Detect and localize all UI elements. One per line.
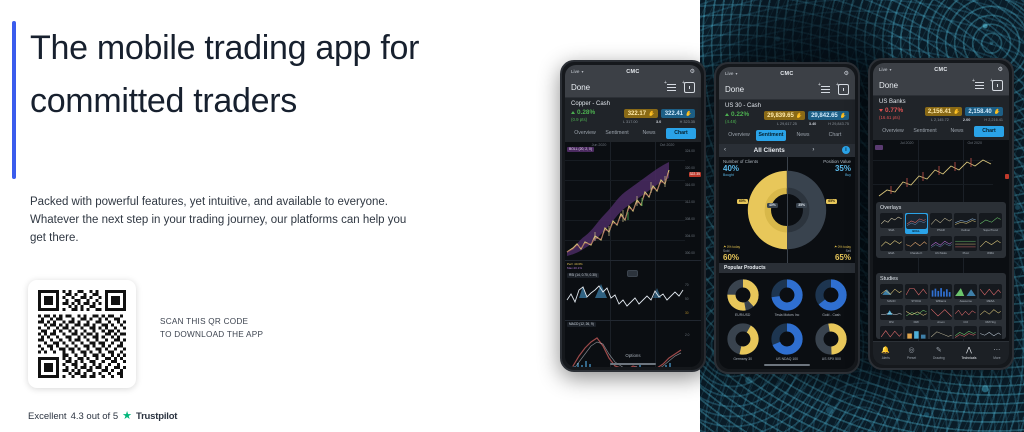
axis-tick: 312.00 bbox=[685, 200, 701, 204]
study-label: MACD bbox=[887, 300, 895, 303]
tab-overview[interactable]: Overview bbox=[878, 126, 908, 137]
instrument-name: US Banks bbox=[879, 99, 1003, 105]
studies-title: Studies bbox=[880, 276, 1002, 282]
study-item-williams[interactable]: Williams bbox=[930, 284, 953, 303]
add-alert-icon[interactable] bbox=[684, 82, 695, 93]
thumb-preview bbox=[954, 284, 977, 299]
toolbar-label: More bbox=[993, 356, 1000, 360]
study-item-sstoch[interactable]: S Stoch bbox=[880, 326, 903, 339]
prev-client-button[interactable]: ‹ bbox=[724, 147, 726, 153]
high-label: H 29,843.75 bbox=[828, 122, 849, 126]
high-label: H 323.35 bbox=[680, 120, 695, 124]
page-title: The mobile trading app for committed tra… bbox=[30, 22, 460, 128]
phone2-screen: Live ▾ CMC ⚙ Done US 30 - Cash bbox=[719, 67, 855, 369]
product-tile[interactable]: US NDAQ 100 bbox=[765, 320, 808, 363]
phone3-screen: Live ▾ CMC ⚙ Done US Banks bbox=[873, 63, 1009, 365]
qr-code-card[interactable] bbox=[28, 280, 136, 388]
product-label: US NDAQ 100 bbox=[776, 357, 798, 361]
pencil-icon: ✎ bbox=[936, 347, 942, 355]
toolbar-more[interactable]: ⋯ More bbox=[993, 347, 1000, 360]
overlay-badge bbox=[875, 145, 883, 150]
info-icon[interactable]: i bbox=[842, 146, 850, 154]
preset-icon: ◎ bbox=[909, 347, 915, 355]
add-watchlist-icon[interactable] bbox=[666, 82, 677, 93]
buy-price: 29,842.65 bbox=[811, 113, 838, 119]
sell-price: 29,839.65 bbox=[767, 113, 794, 119]
done-button[interactable]: Done bbox=[879, 81, 898, 90]
spread-value: 3.40 bbox=[809, 122, 816, 126]
sentiment-chart-area: Number of Clients 40% Bought Position Va… bbox=[719, 157, 855, 263]
tab-news[interactable]: News bbox=[634, 128, 664, 139]
toolbar-drawing[interactable]: ✎ Drawing bbox=[933, 347, 945, 360]
overlay-badge: BOLL (20, 2, 0) bbox=[567, 147, 594, 152]
add-alert-icon[interactable] bbox=[838, 84, 849, 95]
phone3-toolbar: 🔔 Alerts ◎ Preset ✎ Drawing ⋀ Technicals bbox=[873, 341, 1009, 365]
done-button[interactable]: Done bbox=[725, 85, 744, 94]
thumb-preview bbox=[979, 305, 1002, 320]
product-donut bbox=[814, 278, 848, 312]
overlay-item-pivot[interactable]: Pivot bbox=[954, 236, 977, 255]
product-tile[interactable]: Gold - Cash bbox=[810, 276, 853, 319]
overlay-label: Pivot bbox=[963, 252, 969, 255]
overlay-item-ema[interactable]: EMA bbox=[880, 236, 903, 255]
instrument-change: 0.22% (4.48) bbox=[725, 111, 749, 124]
thumb-preview bbox=[880, 236, 903, 251]
tab-overview[interactable]: Overview bbox=[570, 128, 600, 139]
thumb-preview bbox=[930, 284, 953, 299]
overlay-item-supertrend[interactable]: SuperTrend bbox=[979, 213, 1002, 234]
phone2-navbar: Done bbox=[719, 80, 855, 100]
left-outer-tag: 60% bbox=[737, 199, 748, 204]
add-watchlist-icon[interactable] bbox=[820, 84, 831, 95]
buy-hand-icon: ✋ bbox=[685, 111, 691, 117]
accent-bar bbox=[12, 21, 16, 179]
thumb-preview bbox=[905, 284, 928, 299]
sell-price: 2,156.41 bbox=[928, 109, 951, 115]
toolbar-label: Preset bbox=[907, 356, 916, 360]
axis-tick: 2.0 bbox=[685, 333, 701, 337]
chart-date-2: Oct 2020 bbox=[660, 143, 675, 147]
product-label: US SPX 500 bbox=[822, 357, 841, 361]
overlay-label: WMA bbox=[987, 252, 994, 255]
chart-date-2: Oct 2020 bbox=[967, 141, 982, 145]
study-item-roc[interactable]: ROC bbox=[905, 326, 928, 339]
phone3-tabs: Overview Sentiment News Chart bbox=[873, 124, 1009, 140]
overlay-label: EMA bbox=[888, 252, 894, 255]
sell-price: 322.17 bbox=[628, 111, 646, 117]
overlay-item-sma[interactable]: SMA bbox=[880, 213, 903, 234]
study-item-ultimate[interactable]: Ultimate bbox=[979, 326, 1002, 339]
overlay-label: Ichi Moku bbox=[935, 252, 947, 255]
change-percent: 0.22% bbox=[731, 111, 749, 118]
study-item-mesa[interactable]: MESA bbox=[979, 284, 1002, 303]
low-label: L 2,145.72 bbox=[931, 118, 949, 122]
study-label: Aroon bbox=[937, 321, 944, 324]
phone2-instrument-header: US 30 - Cash 0.22% (4.48) 29,839.65 bbox=[719, 100, 855, 128]
phone-mockup-sentiment: Live ▾ CMC ⚙ Done US 30 - Cash bbox=[714, 62, 860, 374]
phone3-instrument-header: US Banks 0.77% (16.61 pts) 2,156.41 bbox=[873, 96, 1009, 124]
product-tile[interactable]: US SPX 500 bbox=[810, 320, 853, 363]
axis-tick: 308.00 bbox=[685, 217, 701, 221]
thumb-preview bbox=[930, 213, 953, 228]
phone-mockup-technicals: Live ▾ CMC ⚙ Done US Banks bbox=[868, 58, 1014, 370]
thumb-preview bbox=[979, 284, 1002, 299]
trustpilot-star-icon: ★ bbox=[122, 411, 132, 422]
overlay-item-chande[interactable]: Chande K bbox=[905, 236, 928, 255]
phone1-navbar: Done bbox=[565, 78, 701, 98]
study-label: CCI bbox=[963, 321, 968, 324]
overlay-item-boll[interactable]: BOLL bbox=[905, 213, 928, 234]
axis-tick: 50 bbox=[685, 297, 701, 301]
study-label: DMI bbox=[914, 321, 919, 324]
phone1-tabs: Overview Sentiment News Chart bbox=[565, 126, 701, 142]
crosshair-button[interactable] bbox=[627, 270, 638, 277]
overlay-label: Chande K bbox=[910, 252, 922, 255]
product-label: Germany 30 bbox=[733, 357, 752, 361]
sell-hand-icon: ✋ bbox=[648, 111, 654, 117]
rsi-axis: 70 50 30 bbox=[685, 282, 701, 316]
clients-filter-label[interactable]: All Clients bbox=[754, 147, 785, 154]
qr-caption-line1: SCAN THIS QR CODE bbox=[160, 316, 360, 329]
toolbar-preset[interactable]: ◎ Preset bbox=[907, 347, 916, 360]
study-item-rmi[interactable]: RMI Stg bbox=[979, 305, 1002, 324]
product-donut bbox=[726, 278, 760, 312]
change-percent: 0.77% bbox=[885, 107, 903, 114]
study-item-stoch[interactable]: STOCH bbox=[905, 284, 928, 303]
sell-price-button[interactable]: 2,156.41 ✋ bbox=[925, 107, 963, 116]
product-tile[interactable]: EUR/USD bbox=[721, 276, 764, 319]
axis-tick: 70 bbox=[685, 283, 701, 287]
position-sub: Buy bbox=[845, 173, 851, 177]
instrument-name: US 30 - Cash bbox=[725, 103, 849, 109]
trustpilot-score: 4.3 out of 5 bbox=[71, 411, 119, 422]
sell-hand-icon: ✋ bbox=[953, 109, 959, 115]
toolbar-label: Drawing bbox=[933, 356, 945, 360]
buy-price-button[interactable]: 29,842.65 ✋ bbox=[808, 111, 849, 120]
product-donut bbox=[770, 322, 804, 356]
product-tile[interactable]: Germany 30 bbox=[721, 320, 764, 363]
thumb-preview bbox=[930, 326, 953, 339]
candlestick-chart bbox=[565, 148, 689, 256]
sell-price-button[interactable]: 29,839.65 ✋ bbox=[764, 111, 805, 120]
tab-chart[interactable]: Chart bbox=[820, 130, 850, 141]
product-donut bbox=[814, 322, 848, 356]
phone-mockup-chart: Live ▾ CMC ⚙ Done Copper - Cash bbox=[560, 60, 706, 372]
overlays-grid: SMA BOLL PSAR bbox=[880, 213, 1002, 255]
low-label: L 29,617.25 bbox=[777, 122, 797, 126]
buy-price: 322.41 bbox=[665, 111, 683, 117]
thumb-preview bbox=[954, 236, 977, 251]
high-label: H 2,216.41 bbox=[984, 118, 1003, 122]
overlay-item-keltner[interactable]: Keltner bbox=[954, 213, 977, 234]
bell-icon: 🔔 bbox=[881, 347, 890, 355]
right-outer-tag: 65% bbox=[826, 199, 837, 204]
phone2-app-title: CMC bbox=[719, 71, 855, 77]
overlays-title: Overlays bbox=[880, 205, 1002, 211]
thumb-preview bbox=[880, 213, 903, 228]
thumb-preview bbox=[979, 326, 1002, 339]
product-label: EUR/USD bbox=[735, 313, 750, 317]
study-item-cci[interactable]: CCI bbox=[954, 305, 977, 324]
thumb-preview bbox=[954, 326, 977, 339]
phone3-body: Jul 2020 Oct 2020 bbox=[873, 140, 1009, 366]
thumb-preview bbox=[954, 305, 977, 320]
overlay-label: PSAR bbox=[937, 229, 945, 232]
trustpilot-word: Excellent bbox=[28, 411, 67, 422]
overlays-panel: Overlays SMA BOLL bbox=[876, 202, 1006, 259]
instrument-change: 0.77% (16.61 pts) bbox=[879, 107, 903, 120]
home-indicator bbox=[610, 363, 656, 365]
study-label: Williams bbox=[936, 300, 946, 303]
thumb-preview bbox=[905, 326, 928, 339]
product-label: Gold - Cash bbox=[822, 313, 840, 317]
popular-products-header: Popular Products bbox=[719, 263, 855, 273]
overlay-label: SuperTrend bbox=[983, 229, 998, 232]
macd-label: MACD (12, 26, 9) bbox=[567, 322, 596, 327]
change-absolute: (0.9 pts) bbox=[571, 117, 595, 122]
low-label: L 317.00 bbox=[623, 120, 638, 124]
position-value: 35% bbox=[835, 164, 851, 173]
toolbar-alerts[interactable]: 🔔 Alerts bbox=[881, 347, 890, 360]
axis-tick: 300.00 bbox=[685, 251, 701, 255]
phone3-navbar: Done bbox=[873, 76, 1009, 96]
popular-products-grid: EUR/USD Tesla Motors Inc Gold - Cash bbox=[719, 273, 855, 370]
clients-selector-bar: ‹ All Clients › i bbox=[719, 144, 855, 157]
product-label: Tesla Motors Inc bbox=[775, 313, 800, 317]
add-watchlist-icon[interactable] bbox=[974, 80, 985, 91]
buy-price-button[interactable]: 322.41 ✋ bbox=[661, 109, 695, 118]
buy-hand-icon: ✋ bbox=[994, 109, 1000, 115]
spread-value: 2.00 bbox=[963, 118, 970, 122]
buy-price-button[interactable]: 2,158.40 ✋ bbox=[965, 107, 1003, 116]
last-price-marker bbox=[1005, 174, 1009, 179]
thumb-preview bbox=[930, 236, 953, 251]
thumb-preview bbox=[954, 213, 977, 228]
qr-code-image bbox=[38, 290, 126, 378]
thumb-preview bbox=[905, 236, 928, 251]
overlay-item-ichimoku[interactable]: Ichi Moku bbox=[930, 236, 953, 255]
axis-tick: 30 bbox=[685, 311, 701, 315]
qr-caption-line2: TO DOWNLOAD THE APP bbox=[160, 329, 360, 342]
study-item-elderray[interactable]: Elder Ray bbox=[954, 326, 977, 339]
toolbar-technicals[interactable]: ⋀ Technicals bbox=[962, 347, 977, 360]
thumb-preview bbox=[880, 326, 903, 339]
stat-max: Max 20.1% bbox=[567, 266, 583, 270]
study-item-dmi[interactable]: DMI bbox=[905, 305, 928, 324]
study-label: MESA bbox=[987, 300, 995, 303]
tab-overview[interactable]: Overview bbox=[724, 130, 754, 141]
product-donut bbox=[726, 322, 760, 356]
phone1-instrument-header: Copper - Cash 0.28% (0.9 pts) 322.17 bbox=[565, 98, 701, 126]
phone1-chart-body[interactable]: Jun 2020 Oct 2020 bbox=[565, 142, 701, 368]
phone2-statusbar: Live ▾ CMC ⚙ bbox=[719, 67, 855, 80]
flag-icon: ⚑ bbox=[834, 245, 837, 249]
next-client-button[interactable]: › bbox=[812, 147, 814, 153]
macd-axis: 2.0 0.0 bbox=[685, 332, 701, 368]
instrument-change: 0.28% (0.9 pts) bbox=[571, 109, 595, 122]
mini-candles bbox=[877, 152, 993, 202]
hero-page: The mobile trading app for committed tra… bbox=[0, 0, 1024, 432]
studies-panel: Studies MACD STOCH bbox=[876, 273, 1006, 340]
phone1-app-title: CMC bbox=[565, 69, 701, 75]
toolbar-label: Alerts bbox=[882, 356, 890, 360]
phone3-statusbar: Live ▾ CMC ⚙ bbox=[873, 63, 1009, 76]
phone1-statusbar: Live ▾ CMC ⚙ bbox=[565, 65, 701, 78]
sell-price-button[interactable]: 322.17 ✋ bbox=[624, 109, 658, 118]
study-label: STOCH bbox=[911, 300, 921, 303]
right-foot-value: 65% bbox=[835, 253, 851, 262]
change-absolute: (4.48) bbox=[725, 119, 749, 124]
study-label: Awesome bbox=[960, 300, 972, 303]
sell-hand-icon: ✋ bbox=[796, 113, 802, 119]
tab-news[interactable]: News bbox=[788, 130, 818, 141]
overlay-label: BOLL bbox=[912, 230, 920, 233]
right-inner-tag: 35% bbox=[796, 203, 807, 208]
axis-tick: 304.00 bbox=[685, 234, 701, 238]
overlay-label: Keltner bbox=[961, 229, 970, 232]
add-alert-icon[interactable] bbox=[992, 80, 1003, 91]
phone3-app-title: CMC bbox=[873, 67, 1009, 73]
technicals-icon: ⋀ bbox=[966, 347, 972, 355]
study-label: RMI Stg bbox=[986, 321, 996, 324]
thumb-preview bbox=[880, 305, 903, 320]
axis-tick: 316.00 bbox=[685, 183, 701, 187]
arrow-down-icon bbox=[879, 109, 883, 112]
left-inner-tag: 40% bbox=[767, 203, 778, 208]
change-percent: 0.28% bbox=[577, 109, 595, 116]
thumb-preview bbox=[930, 305, 953, 320]
qr-caption: SCAN THIS QR CODE TO DOWNLOAD THE APP bbox=[160, 316, 360, 341]
study-item-aroon[interactable]: Aroon bbox=[930, 305, 953, 324]
chart-stats: Perf. 40.6% Max 20.1% bbox=[567, 262, 583, 270]
study-item-macd[interactable]: MACD bbox=[880, 284, 903, 303]
tab-chart[interactable]: Chart bbox=[666, 128, 696, 139]
tab-sentiment[interactable]: Sentiment bbox=[910, 126, 940, 137]
axis-tick: 324.00 bbox=[685, 149, 701, 153]
stat-perf: Perf. 40.6% bbox=[567, 262, 583, 266]
trustpilot-rating[interactable]: Excellent 4.3 out of 5 ★ Trustpilot bbox=[28, 411, 177, 422]
overlay-item-wma[interactable]: WMA bbox=[979, 236, 1002, 255]
study-item-awesome[interactable]: Awesome bbox=[954, 284, 977, 303]
axis-tick: 320.00 bbox=[685, 166, 701, 170]
phone2-tabs: Overview Sentiment News Chart bbox=[719, 128, 855, 144]
price-axis: 324.00 320.00 316.00 312.00 308.00 304.0… bbox=[685, 148, 701, 256]
buy-price: 2,158.40 bbox=[968, 109, 991, 115]
studies-grid: MACD STOCH Williams bbox=[880, 284, 1002, 339]
arrow-up-icon bbox=[571, 111, 575, 114]
more-icon: ⋯ bbox=[993, 347, 1000, 355]
buy-hand-icon: ✋ bbox=[840, 113, 846, 119]
done-button[interactable]: Done bbox=[571, 83, 590, 92]
tab-chart[interactable]: Chart bbox=[974, 126, 1004, 137]
tab-news[interactable]: News bbox=[942, 126, 972, 137]
study-item-atr[interactable]: ATR bbox=[930, 326, 953, 339]
study-item-rsi[interactable]: RSI bbox=[880, 305, 903, 324]
chart-date-1: Jul 2020 bbox=[900, 141, 914, 145]
rsi-pane bbox=[565, 278, 689, 318]
thumb-preview bbox=[979, 213, 1002, 228]
thumb-preview bbox=[880, 284, 903, 299]
chart-date-1: Jun 2020 bbox=[592, 143, 607, 147]
product-donut bbox=[770, 278, 804, 312]
tab-sentiment[interactable]: Sentiment bbox=[602, 128, 632, 139]
product-tile[interactable]: Tesla Motors Inc bbox=[765, 276, 808, 319]
trustpilot-brand: Trustpilot bbox=[136, 411, 177, 422]
overlay-item-psar[interactable]: PSAR bbox=[930, 213, 953, 234]
macd-pane bbox=[565, 328, 689, 368]
phone1-screen: Live ▾ CMC ⚙ Done Copper - Cash bbox=[565, 65, 701, 367]
thumb-preview bbox=[906, 214, 927, 229]
thumb-preview bbox=[979, 236, 1002, 251]
study-label: RSI bbox=[889, 321, 894, 324]
overlay-label: SMA bbox=[888, 229, 894, 232]
instrument-name: Copper - Cash bbox=[571, 101, 695, 107]
change-absolute: (16.61 pts) bbox=[879, 115, 903, 120]
options-button[interactable]: Options bbox=[625, 353, 640, 358]
tab-sentiment[interactable]: Sentiment bbox=[756, 130, 786, 141]
arrow-up-icon bbox=[725, 113, 729, 116]
toolbar-label: Technicals bbox=[962, 356, 977, 360]
spread-value: 3.0 bbox=[656, 120, 661, 124]
thumb-preview bbox=[905, 305, 928, 320]
hero-subcopy: Packed with powerful features, yet intui… bbox=[30, 193, 425, 247]
left-foot-value: 60% bbox=[723, 253, 740, 262]
